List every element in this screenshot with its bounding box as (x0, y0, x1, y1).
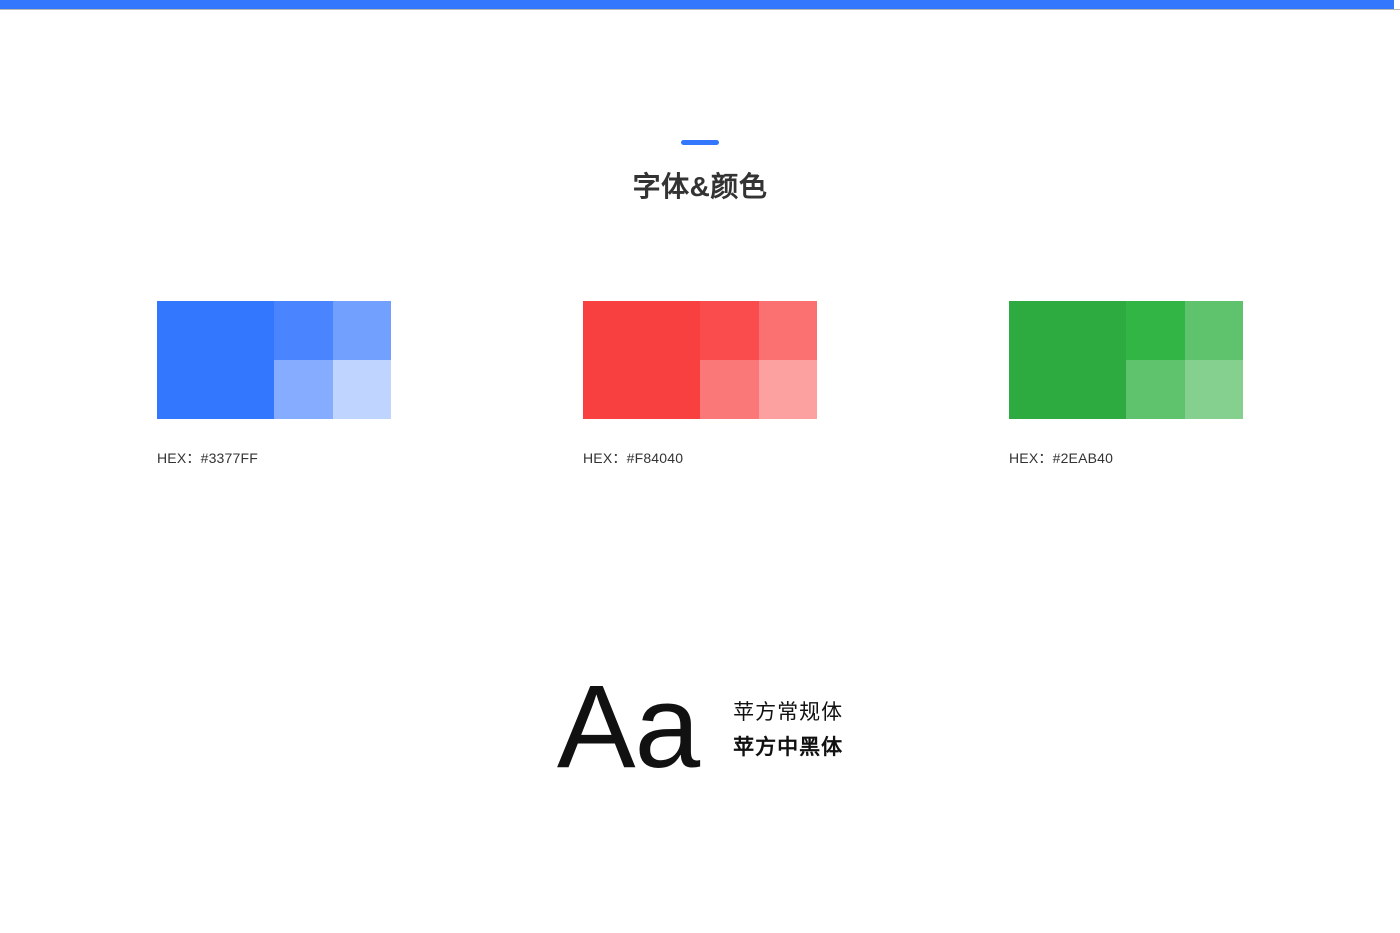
swatch-tint (1126, 301, 1185, 360)
swatch-base-block (583, 301, 700, 419)
swatch-blocks (583, 301, 817, 419)
swatch-tint-grid (274, 301, 391, 419)
swatch-hex-label: HEX：#2EAB40 (1009, 448, 1243, 468)
swatch-tint (274, 360, 333, 419)
section-header: 字体&颜色 (0, 140, 1400, 201)
color-swatch-group: HEX：#3377FF (157, 301, 391, 468)
swatch-tint (1126, 360, 1185, 419)
swatch-tint (700, 360, 759, 419)
swatch-hex-label: HEX：#3377FF (157, 448, 391, 468)
color-palette-row: HEX：#3377FF HEX：#F84040 HEX：#2EAB40 (0, 301, 1400, 481)
color-swatch-group: HEX：#F84040 (583, 301, 817, 468)
swatch-tint (333, 360, 392, 419)
typography-inner: Aa 苹方常规体 苹方中黑体 (557, 668, 843, 786)
swatch-blocks (157, 301, 391, 419)
swatch-tint (274, 301, 333, 360)
font-sample-glyph: Aa (557, 668, 699, 786)
swatch-tint-grid (1126, 301, 1243, 419)
page-title: 字体&颜色 (0, 173, 1400, 201)
swatch-tint (1185, 301, 1244, 360)
swatch-tint (333, 301, 392, 360)
top-bar-divider (0, 9, 1400, 10)
swatch-tint (759, 301, 818, 360)
swatch-base-block (157, 301, 274, 419)
font-name-medium: 苹方中黑体 (733, 736, 843, 759)
swatch-blocks (1009, 301, 1243, 419)
swatch-tint (700, 301, 759, 360)
font-name-regular: 苹方常规体 (733, 701, 843, 724)
top-accent-bar (0, 0, 1394, 9)
swatch-tint (1185, 360, 1244, 419)
swatch-tint-grid (700, 301, 817, 419)
swatch-hex-label: HEX：#F84040 (583, 448, 817, 468)
accent-pill-divider (681, 140, 719, 145)
font-name-list: 苹方常规体 苹方中黑体 (733, 695, 843, 759)
swatch-tint (759, 360, 818, 419)
color-swatch-group: HEX：#2EAB40 (1009, 301, 1243, 468)
swatch-base-block (1009, 301, 1126, 419)
typography-specimen: Aa 苹方常规体 苹方中黑体 (0, 668, 1400, 786)
